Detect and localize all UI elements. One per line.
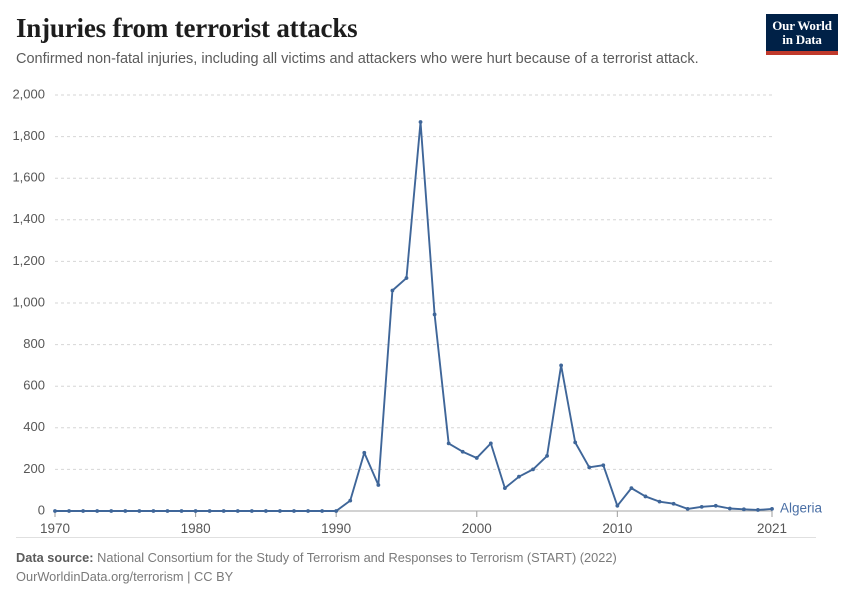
- plot-area[interactable]: 02004006008001,0001,2001,4001,6001,8002,…: [0, 85, 850, 535]
- data-point[interactable]: [194, 509, 198, 513]
- data-point[interactable]: [742, 507, 746, 511]
- data-point[interactable]: [630, 486, 634, 490]
- data-point[interactable]: [166, 509, 170, 513]
- data-point[interactable]: [95, 509, 99, 513]
- data-point[interactable]: [152, 509, 156, 513]
- attribution-line[interactable]: OurWorldinData.org/terrorism | CC BY: [16, 567, 816, 586]
- data-point[interactable]: [728, 507, 732, 511]
- data-point[interactable]: [264, 509, 268, 513]
- data-point[interactable]: [278, 509, 282, 513]
- data-point[interactable]: [770, 507, 774, 511]
- data-point[interactable]: [573, 440, 577, 444]
- x-tick-label: 1970: [40, 521, 70, 535]
- data-point[interactable]: [109, 509, 113, 513]
- gridlines: [55, 95, 772, 469]
- y-tick-label: 1,600: [12, 170, 45, 185]
- x-tick-label: 2010: [602, 521, 632, 535]
- data-point[interactable]: [700, 505, 704, 509]
- data-point[interactable]: [53, 509, 57, 513]
- data-point[interactable]: [503, 486, 507, 490]
- data-point[interactable]: [447, 442, 451, 446]
- data-point[interactable]: [531, 468, 535, 472]
- data-point[interactable]: [672, 502, 676, 506]
- x-tick-label: 2000: [462, 521, 492, 535]
- x-tick-label: 1980: [181, 521, 211, 535]
- series-end-label: Algeria: [780, 500, 823, 515]
- data-point[interactable]: [180, 509, 184, 513]
- series-label-algeria: Algeria: [780, 500, 823, 515]
- data-point[interactable]: [461, 450, 465, 454]
- y-tick-label: 1,800: [12, 128, 45, 143]
- chart-header: Injuries from terrorist attacks Confirme…: [16, 12, 756, 69]
- chart-subtitle: Confirmed non-fatal injuries, including …: [16, 50, 756, 69]
- data-point[interactable]: [756, 508, 760, 512]
- x-axis-tick-labels: 197019801990200020102021: [40, 521, 787, 535]
- data-point[interactable]: [81, 509, 85, 513]
- data-point[interactable]: [658, 500, 662, 504]
- y-tick-label: 800: [23, 336, 45, 351]
- data-point[interactable]: [123, 509, 127, 513]
- y-tick-label: 400: [23, 419, 45, 434]
- chart-footer: Data source: National Consortium for the…: [16, 537, 816, 586]
- data-point[interactable]: [292, 509, 296, 513]
- data-point[interactable]: [405, 276, 409, 280]
- y-tick-label: 200: [23, 461, 45, 476]
- y-tick-label: 2,000: [12, 86, 45, 101]
- data-point[interactable]: [419, 120, 423, 124]
- data-point[interactable]: [489, 442, 493, 446]
- data-point[interactable]: [67, 509, 71, 513]
- chart-container: Injuries from terrorist attacks Confirme…: [0, 0, 850, 600]
- page-title: Injuries from terrorist attacks: [16, 12, 756, 44]
- data-point[interactable]: [348, 499, 352, 503]
- data-point[interactable]: [517, 475, 521, 479]
- data-point[interactable]: [644, 495, 648, 499]
- data-point[interactable]: [686, 507, 690, 511]
- data-point[interactable]: [601, 463, 605, 467]
- data-point[interactable]: [334, 509, 338, 513]
- data-point[interactable]: [559, 364, 563, 368]
- data-point[interactable]: [306, 509, 310, 513]
- data-point[interactable]: [391, 289, 395, 293]
- data-point[interactable]: [208, 509, 212, 513]
- data-point[interactable]: [222, 509, 226, 513]
- y-tick-label: 600: [23, 378, 45, 393]
- y-tick-label: 1,000: [12, 294, 45, 309]
- series-line-algeria[interactable]: [55, 122, 772, 511]
- data-source-text: National Consortium for the Study of Ter…: [97, 550, 617, 565]
- data-point[interactable]: [250, 509, 254, 513]
- y-tick-label: 0: [38, 502, 45, 517]
- logo-line-2: in Data: [770, 33, 834, 47]
- data-point[interactable]: [236, 509, 240, 513]
- y-tick-label: 1,400: [12, 211, 45, 226]
- data-point[interactable]: [376, 483, 380, 487]
- logo-line-1: Our World: [770, 19, 834, 33]
- owid-logo[interactable]: Our World in Data: [766, 14, 838, 55]
- line-chart-svg[interactable]: 02004006008001,0001,2001,4001,6001,8002,…: [0, 85, 850, 535]
- data-point[interactable]: [587, 465, 591, 469]
- data-point[interactable]: [433, 313, 437, 317]
- data-source-label: Data source:: [16, 550, 94, 565]
- x-tick-label: 2021: [757, 521, 787, 535]
- data-point[interactable]: [714, 504, 718, 508]
- x-tick-label: 1990: [321, 521, 351, 535]
- data-point[interactable]: [320, 509, 324, 513]
- data-point[interactable]: [475, 456, 479, 460]
- y-tick-label: 1,200: [12, 253, 45, 268]
- data-point[interactable]: [362, 451, 366, 455]
- data-source-line: Data source: National Consortium for the…: [16, 548, 816, 567]
- data-series-algeria[interactable]: [53, 120, 774, 513]
- y-axis-tick-labels: 02004006008001,0001,2001,4001,6001,8002,…: [12, 86, 45, 517]
- data-point[interactable]: [615, 504, 619, 508]
- data-point[interactable]: [137, 509, 141, 513]
- data-point[interactable]: [545, 454, 549, 458]
